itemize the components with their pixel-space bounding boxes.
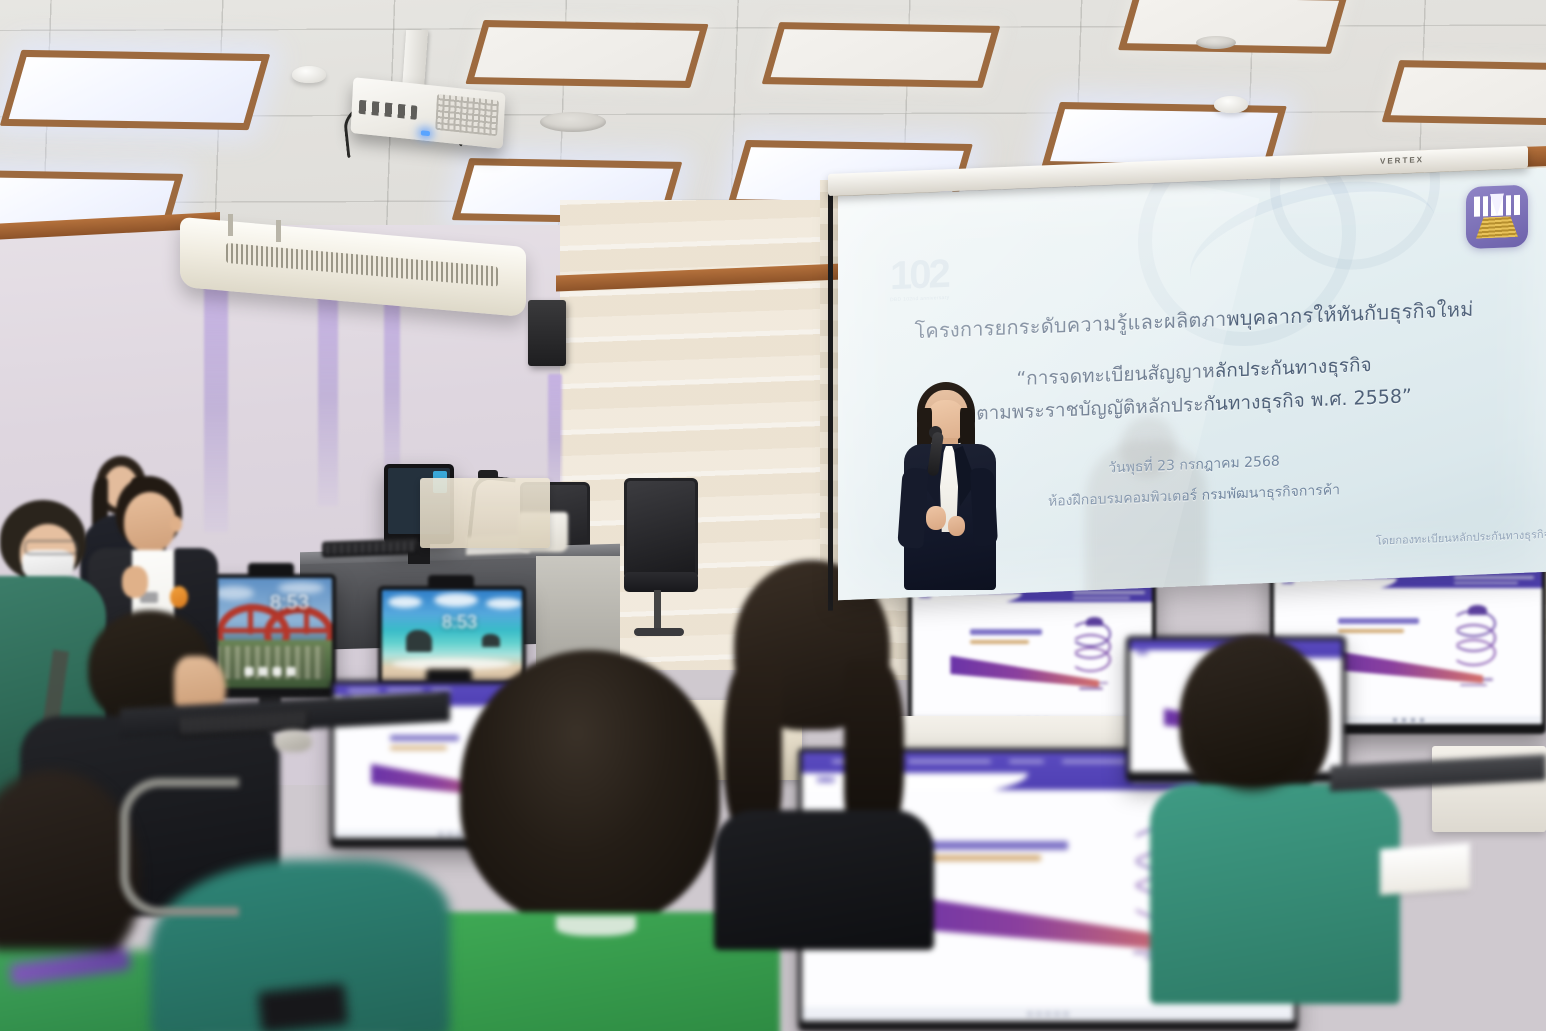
screen-brand-label: VERTEX <box>1380 155 1424 166</box>
site-logo-dbd[interactable]: DBD <box>817 775 835 785</box>
attendee-hand <box>122 566 148 598</box>
ac-grille-icon <box>226 243 498 287</box>
chair-back <box>624 478 698 580</box>
site-headline-secondary <box>390 746 447 750</box>
swirl-cap <box>1468 605 1487 615</box>
swirl-ring <box>1070 647 1111 672</box>
attendee-badge-orange <box>170 586 188 608</box>
window-curtain-2 <box>318 286 338 506</box>
cloud <box>486 598 522 609</box>
lockscreen-taskbar-icons[interactable] <box>245 667 296 676</box>
lockscreen-clock: 8:53 <box>442 612 477 633</box>
wall-speaker <box>528 300 566 366</box>
ceiling-light-panel-6 <box>762 22 1001 88</box>
keyboard-keys-icon <box>325 541 415 554</box>
ac-hanger-2 <box>276 220 281 242</box>
swirl-cap <box>1086 617 1103 626</box>
site-headline <box>390 735 460 750</box>
presenter-hand-right <box>948 516 965 536</box>
chair-post <box>654 590 661 630</box>
ceiling-light-panel-3 <box>465 20 708 88</box>
attendee-torso <box>714 810 934 950</box>
ceiling-vent <box>540 112 606 132</box>
computer-mouse <box>274 730 312 752</box>
ceiling-light-panel-1 <box>0 50 270 130</box>
attendee-head <box>1184 640 1320 790</box>
site-headline-primary <box>1338 618 1418 624</box>
site-body <box>912 602 1152 724</box>
chair-armrest <box>120 778 239 916</box>
lockscreen-clock: 8:53 <box>270 592 309 615</box>
ceiling-vent-2 <box>1196 36 1236 49</box>
instructor-keyboard <box>322 538 418 557</box>
site-headline <box>1338 618 1418 633</box>
site-headline-secondary <box>970 640 1029 644</box>
attendee-teal-shirt <box>1150 784 1400 1004</box>
site-nav-links[interactable] <box>348 689 487 692</box>
site-headline-secondary <box>1338 629 1404 633</box>
chair-seat <box>624 572 698 592</box>
site-headline-primary <box>970 629 1042 635</box>
desk-partition-5 <box>420 478 550 548</box>
attendee-collar <box>556 916 636 936</box>
site-headline-primary <box>920 841 1068 850</box>
monitor-display: 8:53 <box>208 578 332 688</box>
presenter-hand-left <box>926 506 946 530</box>
beach-rock <box>406 630 432 652</box>
smartphone[interactable] <box>258 984 348 1031</box>
site-headline <box>920 841 1068 861</box>
site-swirl-logo-icon <box>1070 621 1111 680</box>
site-headline-secondary <box>920 855 1041 861</box>
beach-rock-2 <box>482 634 500 647</box>
projector-ports <box>359 100 418 120</box>
ceiling-light-panel-9 <box>1382 60 1546 126</box>
attendee-head <box>460 650 720 926</box>
presenter-speaker <box>896 382 1004 590</box>
projector-vent-icon <box>435 94 499 136</box>
site-logo-dbd[interactable]: DBD <box>1136 651 1148 657</box>
presenter-arm-left <box>897 467 929 549</box>
cloud <box>388 596 422 608</box>
smoke-detector-icon <box>292 66 326 83</box>
site-swirl-logo-icon <box>1451 610 1497 675</box>
bridge-tower <box>248 604 253 634</box>
desk-document <box>1380 843 1470 895</box>
window-curtain-3 <box>384 292 400 492</box>
presenter-arm-right <box>970 467 998 546</box>
attendee-face <box>124 492 176 552</box>
swirl-ring <box>1451 639 1497 666</box>
chair-base <box>634 628 684 636</box>
monitor-chin <box>798 1021 1298 1031</box>
attendee-ear <box>170 516 182 532</box>
eyeglasses-icon <box>24 540 78 555</box>
site-headline-primary <box>390 735 460 741</box>
bridge-deck <box>208 628 332 633</box>
training-room-photo: 102 DBD 102nd anniversary โครงการยกระดับ… <box>0 0 1546 1031</box>
os-taskbar[interactable] <box>802 1007 1294 1021</box>
smoke-detector-icon-2 <box>1214 96 1248 113</box>
projector-led-indicator <box>421 130 430 136</box>
cloud <box>214 586 254 600</box>
ac-hanger-1 <box>228 214 233 236</box>
cloud <box>434 593 478 607</box>
slide-title: โครงการยกระดับความรู้และผลิตภาพบุคลากรให… <box>838 290 1546 351</box>
lockscreen-wallpaper-bridge: 8:53 <box>208 578 332 688</box>
window-curtain-1 <box>204 282 228 532</box>
site-headline <box>970 629 1042 644</box>
